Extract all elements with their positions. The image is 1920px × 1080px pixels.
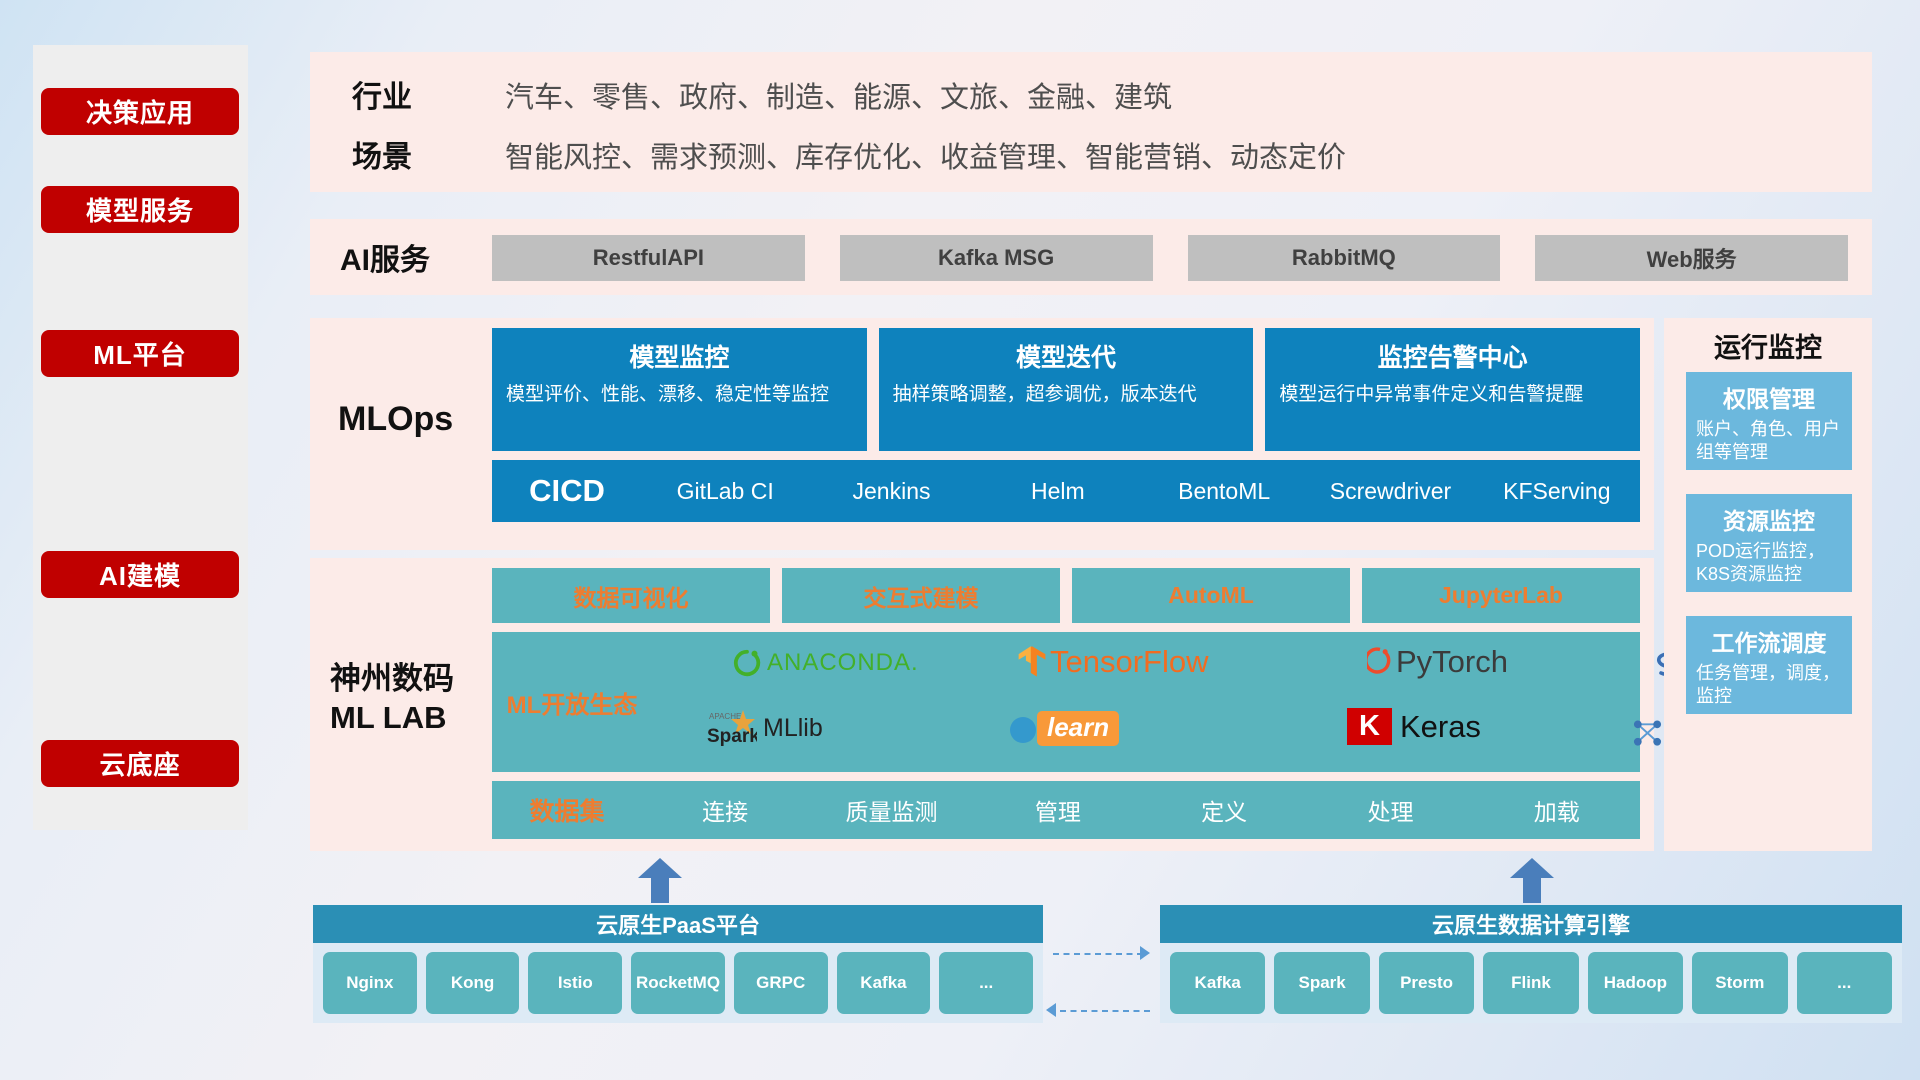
cicd-item-screwdriver[interactable]: Screwdriver [1307,476,1473,506]
industry-list: 汽车、零售、政府、制造、能源、文旅、金融、建筑 [505,74,1172,116]
sidebar-item-decision-app[interactable]: 决策应用 [41,88,239,135]
sidebar-item-cloud-base[interactable]: 云底座 [41,740,239,787]
card-title: 监控告警中心 [1279,338,1626,374]
engine-chip-spark[interactable]: Spark [1274,952,1369,1014]
card-desc: 任务管理，调度，监控 [1696,662,1842,709]
tensorflow-logo: TensorFlow [1017,644,1209,680]
cicd-item-bentoml[interactable]: BentoML [1141,476,1307,506]
sidebar-item-ml-platform[interactable]: ML平台 [41,330,239,377]
ml-lab-label: 神州数码 ML LAB [330,660,454,738]
rail-label: 决策应用 [86,93,194,130]
engine-chip-presto[interactable]: Presto [1379,952,1474,1014]
scikit-learn-label: learn [1037,711,1119,746]
ml-lab-label-line1: 神州数码 [330,660,454,699]
scenario-label: 场景 [352,132,412,176]
dataset-item-list: 连接 质量监测 管理 定义 处理 加载 [642,793,1640,827]
rail-label: 云底座 [99,745,180,782]
ml-lab-label-line2: ML LAB [330,699,454,738]
dataset-item-connect[interactable]: 连接 [642,793,808,827]
card-title: 模型监控 [506,338,853,374]
paas-to-engine-arrow [1053,953,1143,955]
tool-chip-interactive-modeling[interactable]: 交互式建模 [782,568,1060,623]
card-title: 模型迭代 [893,338,1240,374]
engine-chip-hadoop[interactable]: Hadoop [1588,952,1683,1014]
scikit-learn-logo: learn [1007,710,1119,746]
spark-icon: APACHE Spark [707,708,757,748]
paas-platform-panel: 云原生PaaS平台 Nginx Kong Istio RocketMQ GRPC… [313,905,1043,1023]
rail-label: ML平台 [93,335,187,372]
cicd-item-list: GitLab CI Jenkins Helm BentoML Screwdriv… [642,476,1640,506]
rail-label: 模型服务 [86,191,194,228]
mlops-card-model-iteration[interactable]: 模型迭代 抽样策略调整，超参调优，版本迭代 [879,328,1254,451]
left-layer-rail: 决策应用 模型服务 ML平台 AI建模 云底座 [33,45,248,830]
dataset-item-quality[interactable]: 质量监测 [808,793,974,827]
tensorflow-label: TensorFlow [1050,644,1209,680]
keras-label: Keras [1400,709,1481,745]
paas-chip-rocketmq[interactable]: RocketMQ [631,952,725,1014]
card-desc: 抽样策略调整，超参调优，版本迭代 [893,382,1240,408]
spark-mllib-logo: APACHE Spark MLlib [707,708,823,748]
paas-chip-kafka[interactable]: Kafka [837,952,931,1014]
card-desc: 账户、角色、用户组等管理 [1696,418,1842,465]
engine-chip-list: Kafka Spark Presto Flink Hadoop Storm ..… [1160,943,1902,1023]
scenario-list: 智能风控、需求预测、库存优化、收益管理、智能营销、动态定价 [505,134,1346,176]
engine-title: 云原生数据计算引擎 [1160,905,1902,943]
paas-chip-grpc[interactable]: GRPC [734,952,828,1014]
card-title: 资源监控 [1696,502,1842,536]
sidebar-item-model-service[interactable]: 模型服务 [41,186,239,233]
tensorflow-icon [1017,645,1047,679]
paas-chip-istio[interactable]: Istio [528,952,622,1014]
paas-to-engine-arrowhead [1140,946,1150,960]
card-title: 工作流调度 [1696,624,1842,658]
monitor-card-permission[interactable]: 权限管理 账户、角色、用户组等管理 [1686,372,1852,470]
networkx-icon [1632,718,1665,750]
sidebar-item-ai-modeling[interactable]: AI建模 [41,551,239,598]
cicd-item-kfserving[interactable]: KFServing [1474,476,1640,506]
dataset-title: 数据集 [492,792,642,828]
paas-up-arrow [638,858,682,903]
mlops-card-model-monitoring[interactable]: 模型监控 模型评价、性能、漂移、稳定性等监控 [492,328,867,451]
engine-to-paas-arrowhead [1046,1003,1056,1017]
svg-text:Spark: Spark [707,726,757,747]
ml-open-ecosystem-box: ML开放生态 ANACONDA. TensorFlow PyTorch [492,632,1640,772]
tool-chip-automl[interactable]: AutoML [1072,568,1350,623]
cicd-title: CICD [492,473,642,509]
monitor-card-resource[interactable]: 资源监控 POD运行监控，K8S资源监控 [1686,494,1852,592]
dataset-bar: 数据集 连接 质量监测 管理 定义 处理 加载 [492,781,1640,839]
runtime-monitor-title: 运行监控 [1664,326,1872,365]
card-desc: POD运行监控，K8S资源监控 [1696,540,1842,587]
engine-chip-more[interactable]: ... [1797,952,1892,1014]
dataset-item-define[interactable]: 定义 [1141,793,1307,827]
card-desc: 模型运行中异常事件定义和告警提醒 [1279,382,1626,408]
industry-label: 行业 [352,72,412,116]
ai-service-chip-list: RestfulAPI Kafka MSG RabbitMQ Web服务 [492,235,1848,281]
monitor-card-workflow[interactable]: 工作流调度 任务管理，调度，监控 [1686,616,1852,714]
dataset-item-process[interactable]: 处理 [1307,793,1473,827]
service-chip-web-service[interactable]: Web服务 [1535,235,1848,281]
paas-chip-nginx[interactable]: Nginx [323,952,417,1014]
rail-label: AI建模 [99,556,181,593]
engine-to-paas-arrow [1060,1010,1150,1012]
modeling-tool-chip-list: 数据可视化 交互式建模 AutoML JupyterLab [492,568,1640,623]
cicd-item-helm[interactable]: Helm [975,476,1141,506]
pytorch-logo: PyTorch [1367,644,1508,680]
mllib-label: MLlib [763,714,823,743]
tool-chip-data-visualization[interactable]: 数据可视化 [492,568,770,623]
pytorch-label: PyTorch [1396,644,1508,680]
service-chip-restfulapi[interactable]: RestfulAPI [492,235,805,281]
cicd-item-jenkins[interactable]: Jenkins [808,476,974,506]
card-desc: 模型评价、性能、漂移、稳定性等监控 [506,382,853,408]
service-chip-rabbitmq[interactable]: RabbitMQ [1188,235,1501,281]
paas-chip-list: Nginx Kong Istio RocketMQ GRPC Kafka ... [313,943,1043,1023]
ml-ecosystem-label: ML开放生态 [492,685,652,720]
pytorch-icon [1367,646,1393,678]
engine-chip-flink[interactable]: Flink [1483,952,1578,1014]
service-chip-kafka-msg[interactable]: Kafka MSG [840,235,1153,281]
anaconda-label: ANACONDA. [767,649,919,677]
cicd-bar: CICD GitLab CI Jenkins Helm BentoML Scre… [492,460,1640,522]
paas-chip-kong[interactable]: Kong [426,952,520,1014]
tool-chip-jupyterlab[interactable]: JupyterLab [1362,568,1640,623]
mlops-card-list: 模型监控 模型评价、性能、漂移、稳定性等监控 模型迭代 抽样策略调整，超参调优，… [492,328,1640,451]
keras-logo: K Keras [1347,708,1481,745]
dataset-item-load[interactable]: 加载 [1474,793,1640,827]
ecosystem-logo-area: ANACONDA. TensorFlow PyTorch sas [652,632,1640,772]
keras-icon: K [1347,708,1392,745]
paas-chip-more[interactable]: ... [939,952,1033,1014]
data-compute-engine-panel: 云原生数据计算引擎 Kafka Spark Presto Flink Hadoo… [1160,905,1902,1023]
ai-service-label: AI服务 [340,232,480,282]
cicd-item-gitlab-ci[interactable]: GitLab CI [642,476,808,506]
mlops-label: MLOps [338,400,453,439]
card-title: 权限管理 [1696,380,1842,414]
dataset-item-manage[interactable]: 管理 [975,793,1141,827]
engine-up-arrow [1510,858,1554,903]
mlops-card-alert-center[interactable]: 监控告警中心 模型运行中异常事件定义和告警提醒 [1265,328,1640,451]
paas-title: 云原生PaaS平台 [313,905,1043,943]
engine-chip-storm[interactable]: Storm [1692,952,1787,1014]
anaconda-logo: ANACONDA. [732,648,919,678]
engine-chip-kafka[interactable]: Kafka [1170,952,1265,1014]
anaconda-icon [732,648,762,678]
